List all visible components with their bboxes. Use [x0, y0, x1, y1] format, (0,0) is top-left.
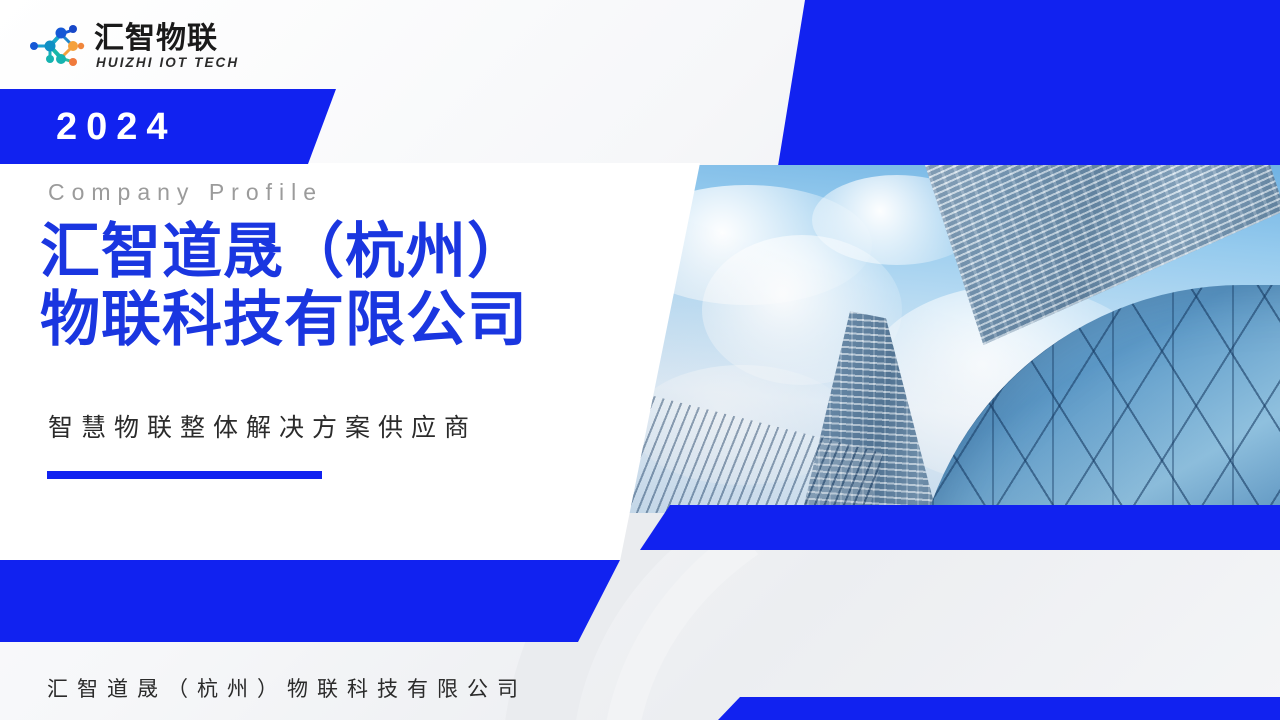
blue-band-under-photo — [640, 505, 1280, 550]
year-label: 2024 — [56, 108, 177, 146]
huizhi-network-nodes-logo-icon — [28, 24, 86, 68]
blue-band-bottom-right — [718, 697, 1280, 720]
slide-canvas: 汇智物联 HUIZHI IOT TECH 2024 Company Profil… — [0, 0, 1280, 720]
year-banner: 2024 — [0, 89, 336, 164]
page-title-line-1: 汇智道晟（杭州） — [40, 218, 680, 286]
company-logo[interactable]: 汇智物联 HUIZHI IOT TECH — [28, 22, 258, 74]
blue-band-bottom-left — [0, 560, 620, 642]
photo-shading-overlay — [612, 165, 1280, 513]
page-subtitle: 智慧物联整体解决方案供应商 — [48, 408, 477, 444]
skyscraper-photo — [612, 165, 1280, 513]
logo-english-wordmark: HUIZHI IOT TECH — [96, 55, 239, 70]
accent-rule — [47, 471, 322, 479]
eyebrow-company-profile: Company Profile — [48, 179, 323, 206]
footer-company-name: 汇智道晟（杭州）物联科技有限公司 — [47, 673, 527, 703]
blue-band-top-right — [778, 0, 1280, 166]
logo-chinese-wordmark: 汇智物联 — [94, 22, 218, 56]
page-title-line-2: 物联科技有限公司 — [40, 286, 680, 354]
page-title: 汇智道晟（杭州） 物联科技有限公司 — [40, 218, 680, 354]
